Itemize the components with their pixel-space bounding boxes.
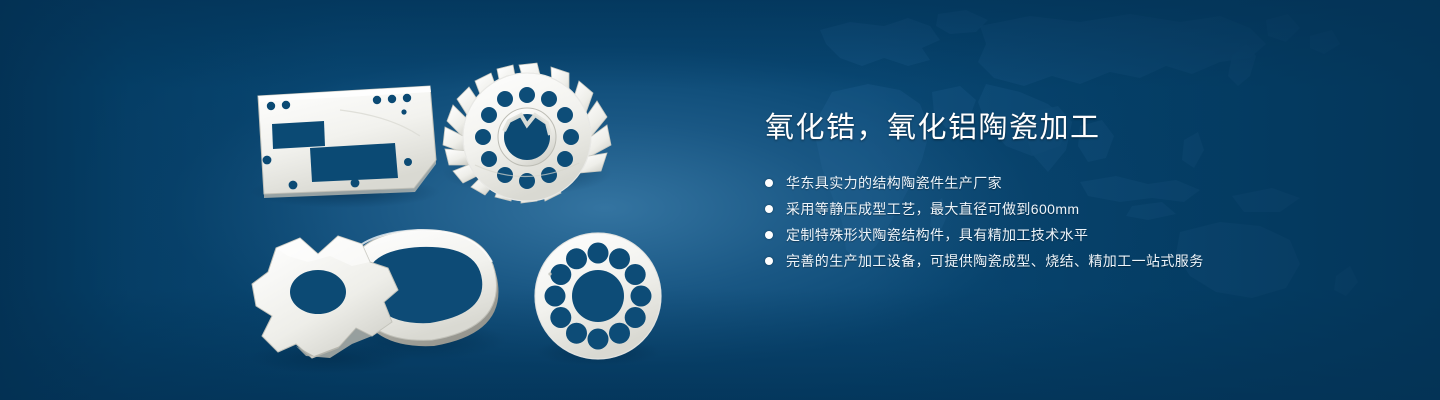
page-title: 氧化锆，氧化铝陶瓷加工 xyxy=(765,110,1385,146)
bullet-dot-icon xyxy=(765,231,773,239)
ceramic-perforated-disc xyxy=(535,233,661,366)
list-item-label: 完善的生产加工设备，可提供陶瓷成型、烧结、精加工一站式服务 xyxy=(786,250,1204,272)
hero-banner: 氧化锆，氧化铝陶瓷加工 华东具实力的结构陶瓷件生产厂家 采用等静压成型工艺，最大… xyxy=(0,0,1440,400)
product-photo-collage xyxy=(0,0,720,400)
list-item: 华东具实力的结构陶瓷件生产厂家 xyxy=(765,172,1385,194)
bullet-dot-icon xyxy=(765,205,773,213)
feature-list: 华东具实力的结构陶瓷件生产厂家 采用等静压成型工艺，最大直径可做到600mm 定… xyxy=(765,172,1385,272)
list-item: 定制特殊形状陶瓷结构件，具有精加工技术水平 xyxy=(765,224,1385,246)
bullet-dot-icon xyxy=(765,257,773,265)
ceramic-mounting-plate xyxy=(250,86,440,208)
list-item-label: 采用等静压成型工艺，最大直径可做到600mm xyxy=(786,198,1079,220)
list-item-label: 定制特殊形状陶瓷结构件，具有精加工技术水平 xyxy=(786,224,1088,246)
list-item-label: 华东具实力的结构陶瓷件生产厂家 xyxy=(786,172,1002,194)
list-item: 完善的生产加工设备，可提供陶瓷成型、烧结、精加工一站式服务 xyxy=(765,250,1385,272)
banner-copy: 氧化锆，氧化铝陶瓷加工 华东具实力的结构陶瓷件生产厂家 采用等静压成型工艺，最大… xyxy=(765,110,1385,276)
ceramic-impeller-rotor xyxy=(442,63,612,203)
list-item: 采用等静压成型工艺，最大直径可做到600mm xyxy=(765,198,1385,220)
bullet-dot-icon xyxy=(765,179,773,187)
